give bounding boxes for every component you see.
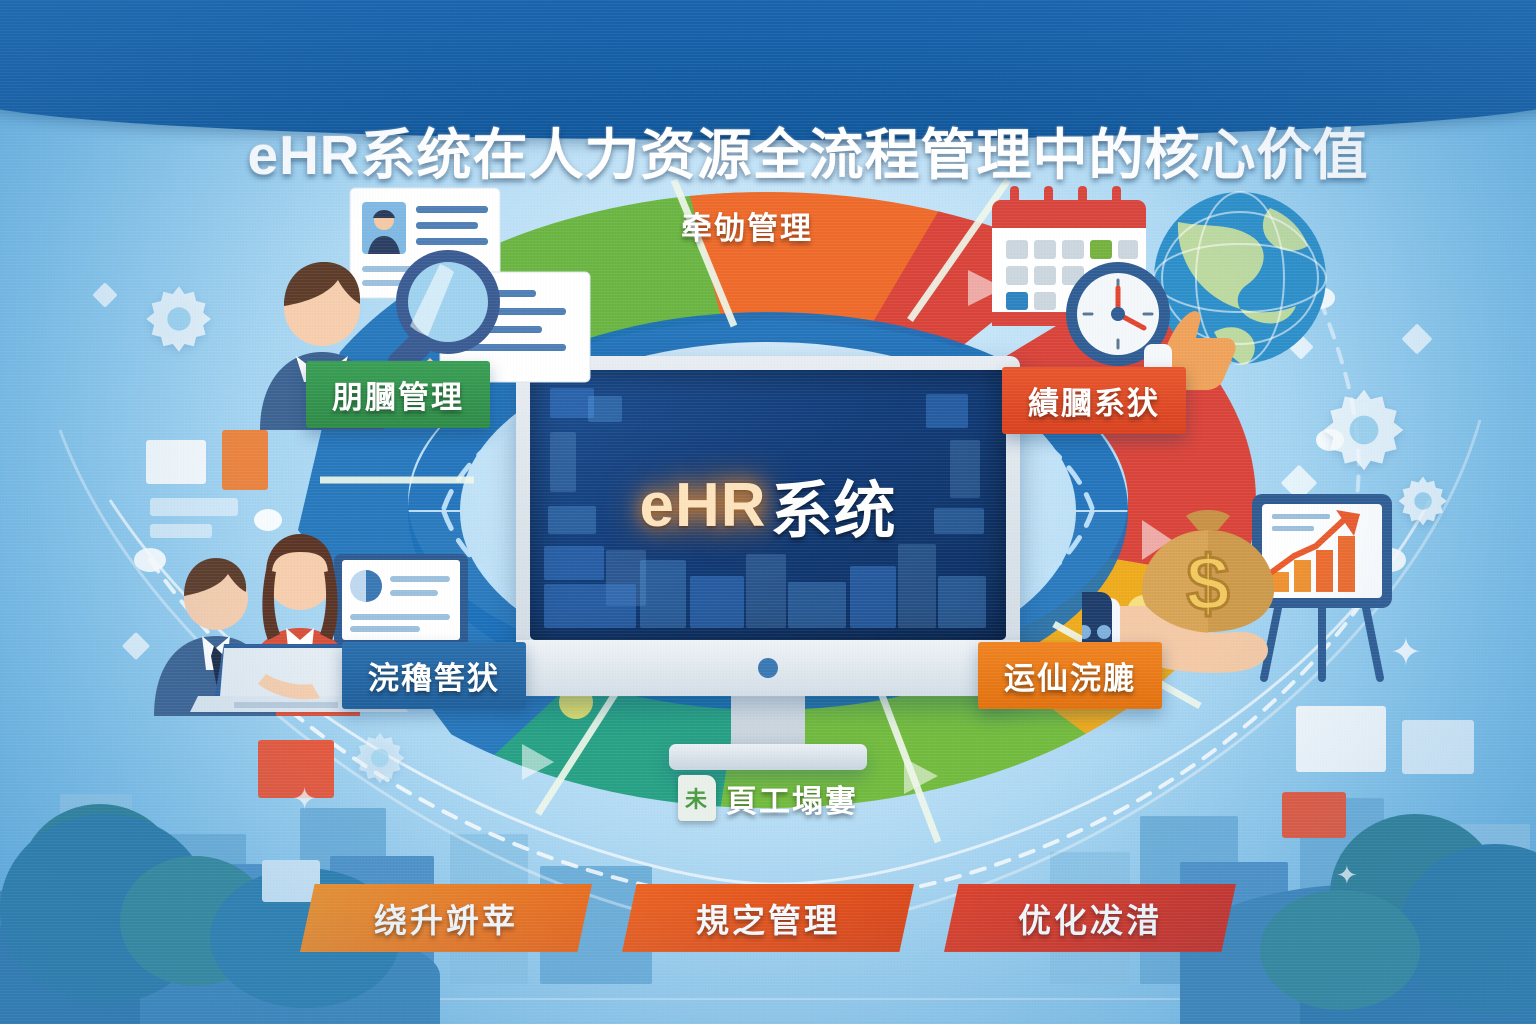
infographic-canvas: ✦ ✦ ✦ <box>0 0 1536 1024</box>
vignette-overlay <box>0 0 1536 1024</box>
